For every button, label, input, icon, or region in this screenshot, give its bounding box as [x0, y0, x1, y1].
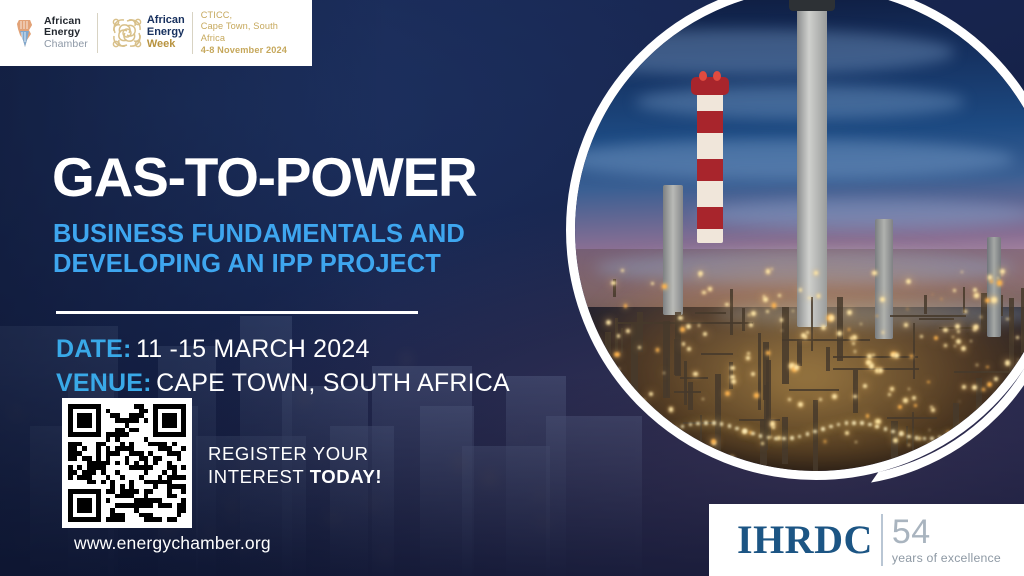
venue-value: CAPE TOWN, SOUTH AFRICA: [156, 369, 510, 397]
event-venue-row: VENUE: CAPE TOWN, SOUTH AFRICA: [56, 368, 510, 402]
event-details: DATE: 11 -15 MARCH 2024 VENUE: CAPE TOWN…: [56, 334, 510, 402]
aec-line-2: Energy: [44, 27, 88, 38]
refinery-photo: [575, 0, 1024, 471]
header-logo-bar: African Energy Chamber African Energy We…: [0, 0, 312, 66]
register-cta-text: REGISTER YOUR INTEREST TODAY!: [208, 443, 382, 488]
divider-rule: [56, 311, 418, 314]
circle-ring-border: [566, 0, 1024, 480]
event-venue-line-1: CTICC,: [201, 10, 302, 22]
date-value: 11 -15 MARCH 2024: [136, 335, 370, 363]
aec-line-3: Chamber: [44, 39, 88, 50]
qr-code-modules: [68, 404, 186, 522]
register-line-2: INTEREST TODAY!: [208, 466, 382, 489]
ihrdc-logo: IHRDC 54 years of excellence: [709, 504, 1024, 576]
ihrdc-tagline: years of excellence: [892, 551, 1001, 565]
page-title: GAS-TO-POWER: [52, 146, 477, 208]
ihrdc-anniversary: 54 years of excellence: [892, 516, 1001, 565]
qr-code[interactable]: [62, 398, 192, 528]
page-subtitle: BUSINESS FUNDAMENTALS AND DEVELOPING AN …: [53, 219, 465, 279]
subtitle-line-1: BUSINESS FUNDAMENTALS AND: [53, 219, 465, 249]
ihrdc-wordmark: IHRDC: [737, 520, 873, 560]
register-line-1: REGISTER YOUR: [208, 443, 382, 466]
ornament-medallion-icon: [107, 13, 147, 53]
register-prefix: INTEREST: [208, 466, 310, 487]
event-date-row: DATE: 11 -15 MARCH 2024: [56, 334, 510, 368]
aew-logo-text: African Energy Week: [147, 15, 185, 50]
africa-continent-icon: [12, 18, 38, 48]
website-url[interactable]: www.energychamber.org: [74, 533, 271, 554]
header-divider-2: [192, 12, 193, 54]
venue-label: VENUE:: [56, 369, 152, 397]
ihrdc-years-number: 54: [892, 516, 1001, 549]
event-venue-line-3: 4-8 November 2024: [201, 45, 302, 57]
date-label: DATE:: [56, 335, 132, 363]
event-venue-block: CTICC, Cape Town, South Africa 4-8 Novem…: [201, 10, 302, 56]
african-energy-chamber-logo: African Energy Chamber: [12, 16, 88, 50]
aec-logo-text: African Energy Chamber: [44, 16, 88, 50]
aew-line-3: Week: [147, 39, 185, 51]
event-venue-line-2: Cape Town, South Africa: [201, 21, 302, 44]
register-today: TODAY!: [310, 466, 382, 487]
header-divider-1: [97, 13, 98, 53]
subtitle-line-2: DEVELOPING AN IPP PROJECT: [53, 249, 465, 279]
circle-photo-frame: [566, 0, 1024, 480]
poster-canvas: African Energy Chamber African Energy We…: [0, 0, 1024, 576]
ihrdc-divider: [881, 514, 883, 566]
